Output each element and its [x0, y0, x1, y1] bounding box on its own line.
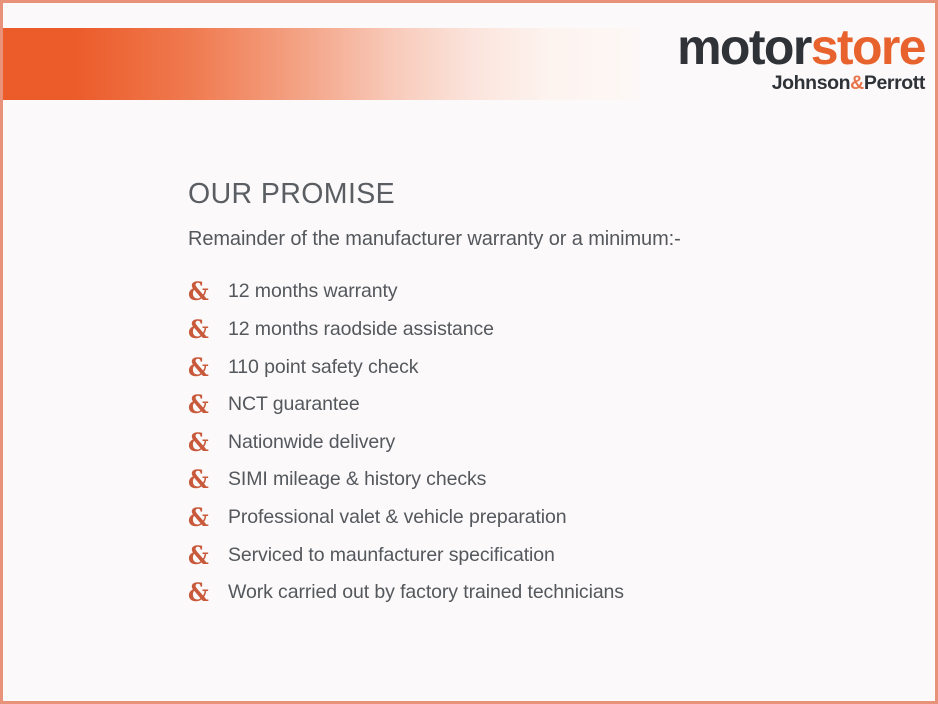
list-item: & Serviced to maunfacturer specification — [188, 537, 888, 575]
ampersand-bullet-icon: & — [188, 461, 212, 499]
motorstore-logo: motorstore Johnson&Perrott — [635, 23, 925, 94]
logo-motor-text: motor — [677, 19, 811, 75]
page-title: OUR PROMISE — [188, 179, 888, 210]
list-item-label: Nationwide delivery — [228, 431, 395, 453]
list-item: & Professional valet & vehicle preparati… — [188, 499, 888, 537]
ampersand-bullet-icon: & — [188, 386, 212, 424]
list-item: & 12 months raodside assistance — [188, 311, 888, 349]
ampersand-bullet-icon: & — [188, 273, 212, 311]
list-item-label: Serviced to maunfacturer specification — [228, 544, 555, 566]
ampersand-bullet-icon: & — [188, 349, 212, 387]
logo-perrott-text: Perrott — [864, 72, 925, 94]
page-subtitle: Remainder of the manufacturer warranty o… — [188, 227, 888, 251]
list-item: & SIMI mileage & history checks — [188, 461, 888, 499]
list-item-label: NCT guarantee — [228, 393, 360, 415]
promise-content: OUR PROMISE Remainder of the manufacture… — [188, 179, 888, 612]
list-item-label: Professional valet & vehicle preparation — [228, 506, 567, 528]
logo-wordmark: motorstore — [635, 23, 925, 72]
logo-ampersand-icon: & — [850, 72, 864, 94]
ampersand-bullet-icon: & — [188, 574, 212, 612]
header-gradient-bar — [0, 28, 639, 100]
ampersand-bullet-icon: & — [188, 311, 212, 349]
promise-list: & 12 months warranty & 12 months raodsid… — [188, 273, 888, 611]
list-item: & 110 point safety check — [188, 349, 888, 387]
list-item: & 12 months warranty — [188, 273, 888, 311]
ampersand-bullet-icon: & — [188, 424, 212, 462]
ampersand-bullet-icon: & — [188, 499, 212, 537]
promise-slide: motorstore Johnson&Perrott OUR PROMISE R… — [0, 0, 938, 704]
list-item: & Nationwide delivery — [188, 424, 888, 462]
list-item-label: Work carried out by factory trained tech… — [228, 581, 624, 603]
list-item: & Work carried out by factory trained te… — [188, 574, 888, 612]
list-item-label: 12 months raodside assistance — [228, 318, 494, 340]
list-item-label: 12 months warranty — [228, 280, 397, 302]
list-item-label: 110 point safety check — [228, 356, 418, 378]
logo-dealer-name: Johnson&Perrott — [635, 74, 925, 94]
ampersand-bullet-icon: & — [188, 537, 212, 575]
slide-header: motorstore Johnson&Perrott — [3, 3, 938, 121]
list-item-label: SIMI mileage & history checks — [228, 468, 486, 490]
list-item: & NCT guarantee — [188, 386, 888, 424]
logo-store-text: store — [811, 19, 925, 75]
logo-johnson-text: Johnson — [772, 72, 850, 94]
